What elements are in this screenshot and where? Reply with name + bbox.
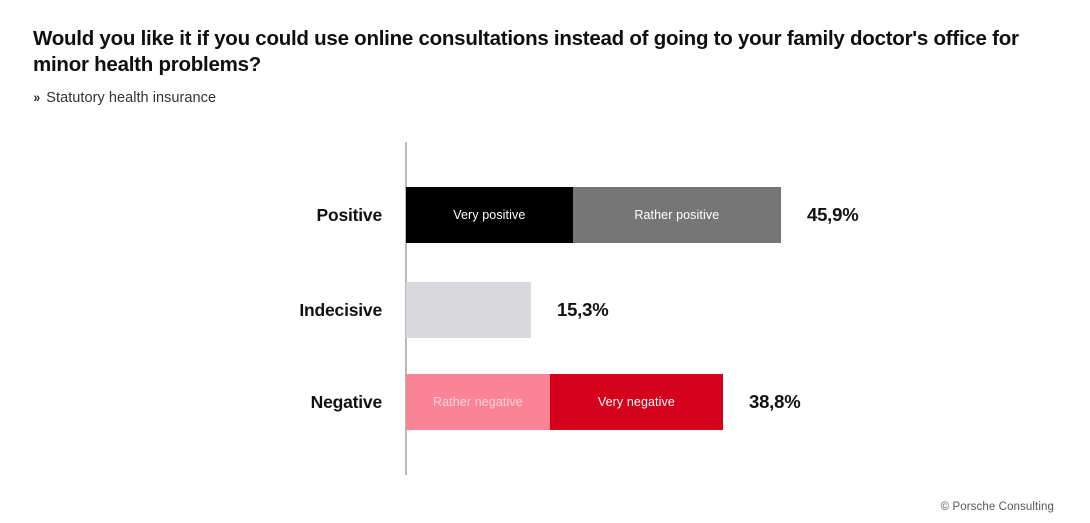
bar-segment-label: Very positive [453,208,525,222]
bar-row: PositiveVery positiveRather positive45,9… [0,187,1090,243]
bar-track [406,282,531,338]
bar-row: Indecisive15,3% [0,282,1090,338]
bar-segment: Very positive [406,187,573,243]
bar-total-value: 38,8% [749,374,800,430]
bar-segment-label: Rather positive [634,208,719,222]
bar-row-label: Negative [140,374,382,430]
bar-segment: Rather negative [406,374,550,430]
bar-segment-label: Very negative [598,395,675,409]
bar-segment [406,282,531,338]
bar-track: Rather negativeVery negative [406,374,723,430]
bar-track: Very positiveRather positive [406,187,781,243]
bar-total-value: 15,3% [557,282,608,338]
copyright-credit: © Porsche Consulting [941,501,1054,513]
bar-row-label: Positive [140,187,382,243]
bar-row: NegativeRather negativeVery negative38,8… [0,374,1090,430]
bar-total-value: 45,9% [807,187,858,243]
bar-segment: Very negative [550,374,723,430]
bar-segment-label: Rather negative [433,395,523,409]
chart-plot-area: PositiveVery positiveRather positive45,9… [0,0,1090,523]
bar-segment: Rather positive [573,187,781,243]
bar-row-label: Indecisive [140,282,382,338]
